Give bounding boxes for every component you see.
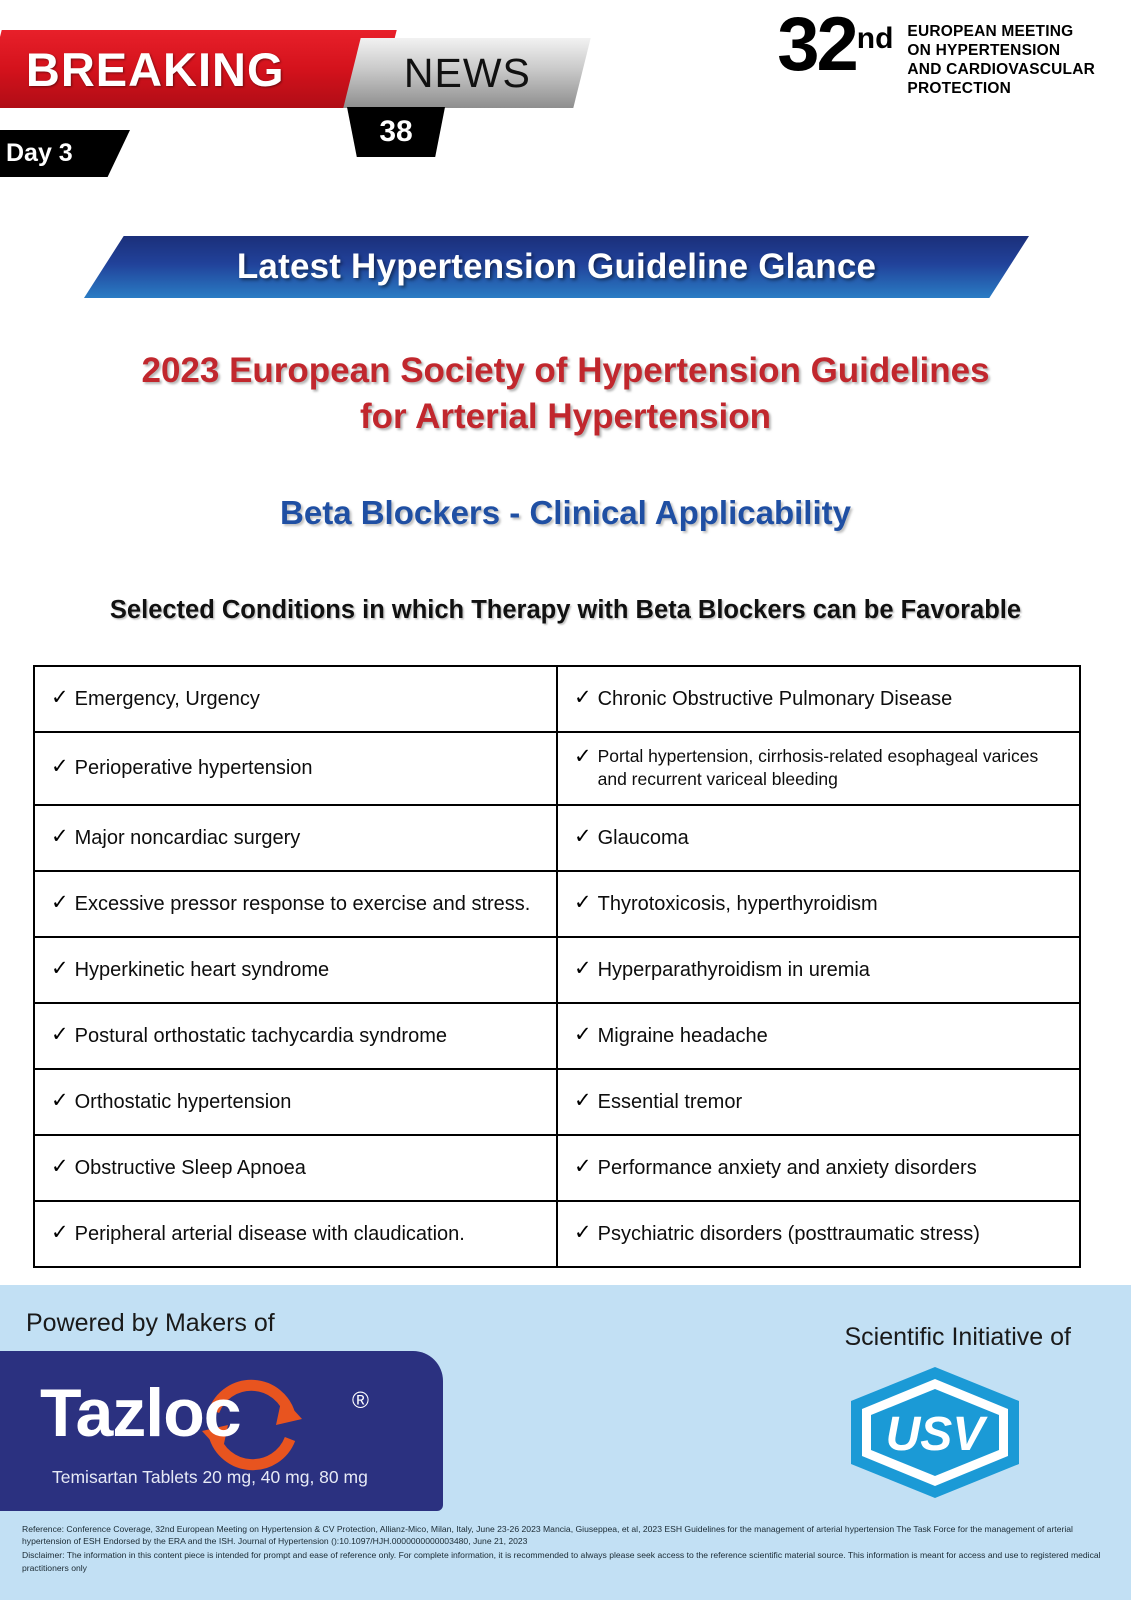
day-label: Day 3	[6, 139, 73, 168]
table-cell-right: ✓ Portal hypertension, cirrhosis-related…	[557, 732, 1080, 805]
table-cell-right: ✓ Psychiatric disorders (posttraumatic s…	[557, 1201, 1080, 1267]
sponsor-name: USV	[886, 1408, 989, 1461]
table-row: ✓ Obstructive Sleep Apnoea ✓ Performance…	[34, 1135, 1080, 1201]
conference-edition-ordinal: nd	[857, 22, 894, 56]
sponsor-logo-usv: USV	[848, 1365, 1023, 1500]
page-subtitle: Beta Blockers - Clinical Applicability	[0, 494, 1131, 532]
table-cell-right: ✓ Glaucoma	[557, 805, 1080, 871]
condition-label: Peripheral arterial disease with claudic…	[75, 1221, 465, 1247]
reference-text: Reference: Conference Coverage, 32nd Eur…	[22, 1523, 1118, 1547]
day-tag: Day 3	[0, 130, 130, 177]
episode-number: 38	[379, 115, 412, 149]
condition-label: Hyperparathyroidism in uremia	[598, 957, 870, 983]
table-row: ✓ Hyperkinetic heart syndrome ✓ Hyperpar…	[34, 937, 1080, 1003]
table-cell-left: ✓ Peripheral arterial disease with claud…	[34, 1201, 557, 1267]
table-cell-right: ✓ Chronic Obstructive Pulmonary Disease	[557, 666, 1080, 732]
table-cell-left: ✓ Postural orthostatic tachycardia syndr…	[34, 1003, 557, 1069]
check-icon: ✓	[574, 1089, 592, 1113]
table-row: ✓ Perioperative hypertension ✓ Portal hy…	[34, 732, 1080, 805]
breaking-label: BREAKING	[26, 42, 285, 97]
section-heading: Selected Conditions in which Therapy wit…	[0, 596, 1131, 625]
table-cell-right: ✓ Thyrotoxicosis, hyperthyroidism	[557, 871, 1080, 937]
check-icon: ✓	[574, 825, 592, 849]
condition-label: Perioperative hypertension	[75, 755, 313, 781]
table-cell-right: ✓ Hyperparathyroidism in uremia	[557, 937, 1080, 1003]
check-icon: ✓	[574, 686, 592, 710]
condition-label: Major noncardiac surgery	[75, 825, 301, 851]
conference-name-line-2: ON HYPERTENSION	[907, 42, 1095, 61]
table-cell-left: ✓ Orthostatic hypertension	[34, 1069, 557, 1135]
condition-label: Performance anxiety and anxiety disorder…	[598, 1155, 977, 1181]
conference-logo: 32 nd EUROPEAN MEETING ON HYPERTENSION A…	[777, 14, 1095, 99]
condition-label: Emergency, Urgency	[75, 686, 260, 712]
disclaimer-text: Disclaimer: The information in this cont…	[22, 1549, 1118, 1573]
guideline-glance-title: Latest Hypertension Guideline Glance	[237, 247, 876, 287]
condition-label: Postural orthostatic tachycardia syndrom…	[75, 1023, 447, 1049]
page-header: BREAKING NEWS 38 Day 3 32 nd EUROPEAN ME…	[0, 0, 1131, 200]
check-icon: ✓	[51, 1023, 69, 1047]
episode-number-tag: 38	[347, 107, 445, 157]
page-footer: Powered by Makers of Scientific Initiati…	[0, 1285, 1131, 1600]
check-icon: ✓	[51, 1089, 69, 1113]
product-line-label: Temisartan Tablets 20 mg, 40 mg, 80 mg	[52, 1467, 368, 1488]
table-cell-left: ✓ Hyperkinetic heart syndrome	[34, 937, 557, 1003]
conference-edition-number: 32	[777, 14, 856, 76]
table-row: ✓ Postural orthostatic tachycardia syndr…	[34, 1003, 1080, 1069]
brand-wordmark: Tazloc	[40, 1379, 241, 1447]
page-title-line-2: for Arterial Hypertension	[40, 394, 1091, 440]
table-cell-left: ✓ Emergency, Urgency	[34, 666, 557, 732]
scientific-initiative-label: Scientific Initiative of	[845, 1323, 1072, 1352]
conference-name-line-1: EUROPEAN MEETING	[907, 23, 1095, 42]
check-icon: ✓	[574, 1155, 592, 1179]
guideline-glance-banner: Latest Hypertension Guideline Glance	[84, 236, 1029, 298]
condition-label: Thyrotoxicosis, hyperthyroidism	[598, 891, 878, 917]
condition-label: Chronic Obstructive Pulmonary Disease	[598, 686, 953, 712]
condition-label: Orthostatic hypertension	[75, 1089, 292, 1115]
check-icon: ✓	[51, 957, 69, 981]
check-icon: ✓	[574, 957, 592, 981]
table-row: ✓ Excessive pressor response to exercise…	[34, 871, 1080, 937]
news-label: NEWS	[404, 50, 531, 97]
registered-trademark-icon: ®	[352, 1387, 369, 1414]
table-row: ✓ Emergency, Urgency ✓ Chronic Obstructi…	[34, 666, 1080, 732]
condition-label: Hyperkinetic heart syndrome	[75, 957, 330, 983]
table-cell-right: ✓ Essential tremor	[557, 1069, 1080, 1135]
table-row: ✓ Orthostatic hypertension ✓ Essential t…	[34, 1069, 1080, 1135]
check-icon: ✓	[51, 686, 69, 710]
table-cell-right: ✓ Migraine headache	[557, 1003, 1080, 1069]
conditions-table-body: ✓ Emergency, Urgency ✓ Chronic Obstructi…	[34, 666, 1080, 1267]
check-icon: ✓	[574, 1221, 592, 1245]
conference-name-line-3: AND CARDIOVASCULAR	[907, 61, 1095, 80]
brand-logo-tazloc: Tazloc ® Temisartan Tablets 20 mg, 40 mg…	[0, 1351, 443, 1511]
news-banner: NEWS	[343, 38, 590, 108]
conference-name-line-4: PROTECTION	[907, 80, 1095, 99]
page-title: 2023 European Society of Hypertension Gu…	[0, 348, 1131, 440]
table-cell-left: ✓ Major noncardiac surgery	[34, 805, 557, 871]
check-icon: ✓	[51, 1221, 69, 1245]
check-icon: ✓	[574, 745, 592, 769]
condition-label: Glaucoma	[598, 825, 689, 851]
fineprint-block: Reference: Conference Coverage, 32nd Eur…	[22, 1523, 1118, 1576]
table-cell-right: ✓ Performance anxiety and anxiety disord…	[557, 1135, 1080, 1201]
conditions-table: ✓ Emergency, Urgency ✓ Chronic Obstructi…	[33, 665, 1081, 1268]
condition-label: Excessive pressor response to exercise a…	[75, 891, 531, 917]
conference-name: EUROPEAN MEETING ON HYPERTENSION AND CAR…	[907, 23, 1095, 99]
table-cell-left: ✓ Perioperative hypertension	[34, 732, 557, 805]
condition-label: Psychiatric disorders (posttraumatic str…	[598, 1221, 980, 1247]
check-icon: ✓	[51, 825, 69, 849]
condition-label: Essential tremor	[598, 1089, 743, 1115]
check-icon: ✓	[574, 1023, 592, 1047]
condition-label: Portal hypertension, cirrhosis-related e…	[598, 745, 1065, 792]
table-cell-left: ✓ Excessive pressor response to exercise…	[34, 871, 557, 937]
check-icon: ✓	[51, 891, 69, 915]
table-row: ✓ Major noncardiac surgery ✓ Glaucoma	[34, 805, 1080, 871]
page-title-line-1: 2023 European Society of Hypertension Gu…	[40, 348, 1091, 394]
check-icon: ✓	[51, 1155, 69, 1179]
breaking-news-banner: BREAKING	[0, 30, 397, 108]
check-icon: ✓	[574, 891, 592, 915]
table-row: ✓ Peripheral arterial disease with claud…	[34, 1201, 1080, 1267]
check-icon: ✓	[51, 755, 69, 779]
table-cell-left: ✓ Obstructive Sleep Apnoea	[34, 1135, 557, 1201]
powered-by-label: Powered by Makers of	[26, 1309, 275, 1338]
condition-label: Migraine headache	[598, 1023, 768, 1049]
condition-label: Obstructive Sleep Apnoea	[75, 1155, 306, 1181]
